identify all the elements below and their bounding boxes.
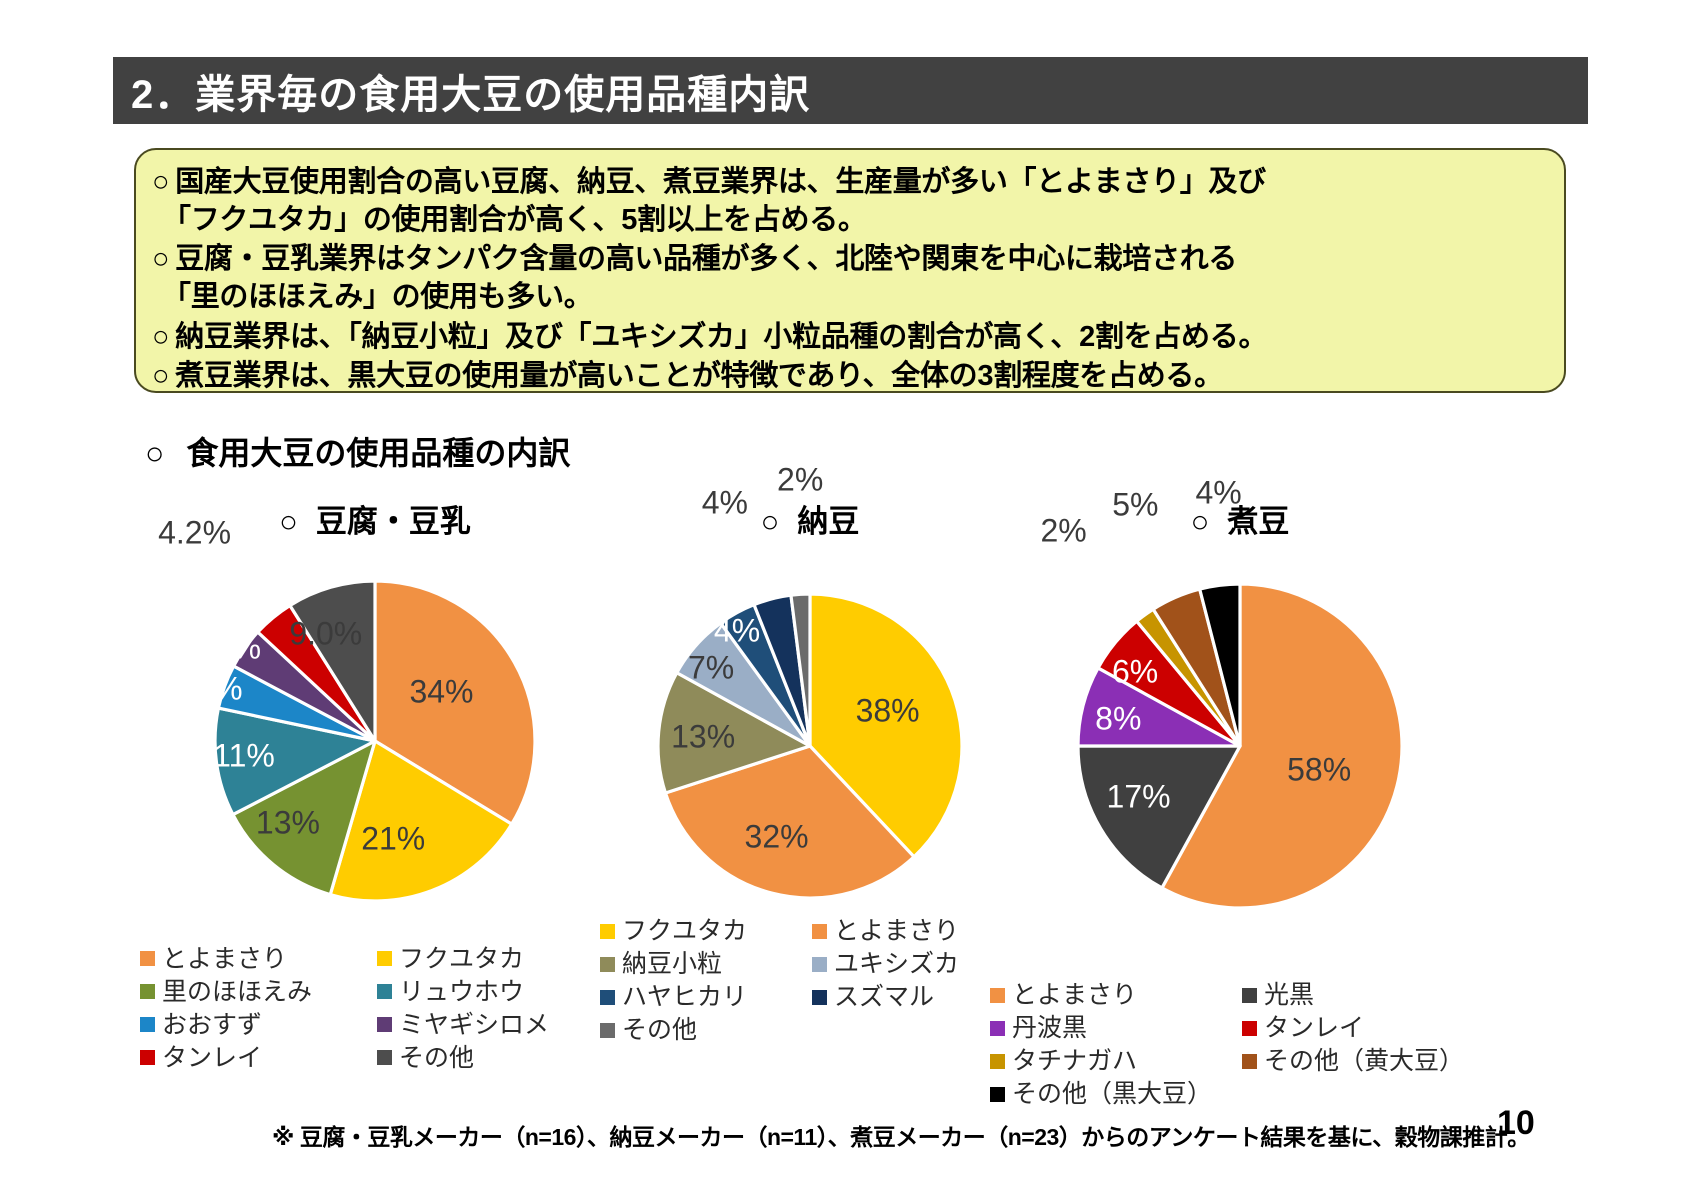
pie-slice-label: 13% <box>671 718 735 755</box>
note-marker-icon: ※ <box>272 1124 294 1150</box>
section-heading: ○食用大豆の使用品種の内訳 <box>145 428 570 474</box>
legend-swatch-icon <box>990 988 1005 1003</box>
slide-title-bar: 2．業界毎の食用大豆の使用品種内訳 <box>113 57 1588 124</box>
callout-bullet-4-line1: 煮豆業界は、黒大豆の使用量が高いことが特徴であり、全体の3割程度を占める。 <box>175 360 1223 392</box>
legend-item-label: 里のほほえみ <box>162 976 312 1008</box>
legend-item-label: 光黒 <box>1264 979 1314 1011</box>
legend-item[interactable]: タンレイ <box>140 1042 373 1074</box>
pie-slice-label: 2% <box>777 462 823 499</box>
pie-slice-label: 58% <box>1287 752 1351 789</box>
legend-item[interactable]: タチナガハ <box>990 1045 1238 1077</box>
pie-slice-label: 8% <box>1095 700 1141 737</box>
callout-bullet-3: ○納豆業界は、「納豆小粒」及び「ユキシズカ」小粒品種の割合が高く、2割を占める。 <box>152 319 1548 357</box>
legend-swatch-icon <box>990 1087 1005 1102</box>
legend-item-label: ミヤギシロメ <box>399 1009 549 1041</box>
legend-item-label: タチナガハ <box>1012 1045 1137 1077</box>
legend-swatch-icon <box>1242 988 1257 1003</box>
pie-slice-label: 32% <box>745 819 809 856</box>
legend-item-label: リュウホウ <box>399 976 524 1008</box>
legend-item[interactable]: とよまさり <box>812 915 1020 947</box>
legend-item[interactable]: フクユタカ <box>377 943 610 975</box>
pie-slice-label: 4% <box>702 484 748 521</box>
legend-item[interactable]: とよまさり <box>140 943 373 975</box>
footnote: ※豆腐・豆乳メーカー（n=16）、納豆メーカー（n=11）、煮豆メーカー（n=2… <box>272 1118 1530 1152</box>
callout-bullet-2-line2: 「里のほほえみ」の使用も多い。 <box>152 279 1548 317</box>
legend-item[interactable]: その他 <box>377 1042 610 1074</box>
legend-swatch-icon <box>600 990 615 1005</box>
legend-item-label: スズマル <box>834 981 934 1013</box>
legend-chart-3: とよまさり光黒丹波黒タンレイタチナガハその他（黄大豆）その他（黒大豆） <box>990 979 1490 1110</box>
legend-item-label: その他 <box>399 1042 474 1074</box>
legend-item[interactable]: ミヤギシロメ <box>377 1009 610 1041</box>
legend-item-label: ハヤヒカリ <box>622 981 747 1013</box>
callout-bullet-2-line1: 豆腐・豆乳業界はタンパク含量の高い品種が多く、北陸や関東を中心に栽培される <box>175 243 1237 275</box>
callout-bullet-2: ○豆腐・豆乳業界はタンパク含量の高い品種が多く、北陸や関東を中心に栽培される 「… <box>152 241 1548 316</box>
pie-svg-natto <box>610 541 1010 909</box>
legend-swatch-icon <box>600 957 615 972</box>
pie-slice-label: 6% <box>1112 653 1158 690</box>
pie-chart-2: 38%32%13%7%4%4%2% <box>600 541 1020 909</box>
pie-slice-label: 11% <box>213 738 275 775</box>
chart-tofu-soymilk: ○豆腐・豆乳 34%21%13%11%4.5%4.2%4.2%9.0% とよまさ… <box>140 496 610 1074</box>
chart-2-title: ○納豆 <box>600 496 1020 541</box>
legend-item[interactable]: ハヤヒカリ <box>600 981 808 1013</box>
pie-slice-label: 38% <box>856 693 920 730</box>
legend-swatch-icon <box>600 924 615 939</box>
chart-nimame: ○煮豆 58%17%8%6%2%5%4% とよまさり光黒丹波黒タンレイタチナガハ… <box>990 496 1490 1110</box>
pie-slice-label: 4.2% <box>188 630 261 667</box>
legend-chart-1: とよまさりフクユタカ里のほほえみリュウホウおおすずミヤギシロメタンレイその他 <box>140 943 610 1074</box>
bullet-marker-icon: ○ <box>152 321 169 353</box>
legend-swatch-icon <box>812 990 827 1005</box>
pie-slice-label: 21% <box>361 821 425 858</box>
legend-item-label: その他（黒大豆） <box>1012 1078 1212 1110</box>
bullet-marker-icon: ○ <box>761 504 780 539</box>
legend-swatch-icon <box>1242 1021 1257 1036</box>
legend-item[interactable]: その他 <box>600 1014 808 1046</box>
legend-item[interactable]: 納豆小粒 <box>600 948 808 980</box>
legend-item-label: 丹波黒 <box>1012 1012 1087 1044</box>
legend-swatch-icon <box>812 924 827 939</box>
legend-item[interactable]: その他（黄大豆） <box>1242 1045 1490 1077</box>
chart-1-title-label: 豆腐・豆乳 <box>316 504 471 539</box>
legend-item-label: その他 <box>622 1014 697 1046</box>
legend-swatch-icon <box>377 1050 392 1065</box>
callout-bullet-3-line1: 納豆業界は、「納豆小粒」及び「ユキシズカ」小粒品種の割合が高く、2割を占める。 <box>175 321 1267 353</box>
legend-item[interactable]: とよまさり <box>990 979 1238 1011</box>
legend-item-label: とよまさり <box>1012 979 1137 1011</box>
pie-slice-label: 2% <box>1040 513 1086 550</box>
bullet-marker-icon: ○ <box>152 166 169 198</box>
legend-swatch-icon <box>377 1017 392 1032</box>
legend-item[interactable]: タンレイ <box>1242 1012 1490 1044</box>
legend-swatch-icon <box>377 951 392 966</box>
legend-swatch-icon <box>140 1017 155 1032</box>
page-number: 10 <box>1497 1104 1535 1143</box>
legend-item-label: タンレイ <box>162 1042 262 1074</box>
legend-swatch-icon <box>990 1021 1005 1036</box>
page-title: 2．業界毎の食用大豆の使用品種内訳 <box>113 62 810 120</box>
bullet-marker-icon: ○ <box>145 435 164 471</box>
pie-slice-label: 4% <box>714 613 760 650</box>
summary-callout-box: ○国産大豆使用割合の高い豆腐、納豆、煮豆業界は、生産量が多い「とよまさり」及び … <box>134 148 1566 393</box>
legend-item-label: 納豆小粒 <box>622 948 722 980</box>
pie-slice-label: 4% <box>1196 475 1242 512</box>
legend-swatch-icon <box>140 951 155 966</box>
legend-item[interactable]: フクユタカ <box>600 915 808 947</box>
pie-slice-label: 13% <box>256 804 320 841</box>
legend-item[interactable]: ユキシズカ <box>812 948 1020 980</box>
legend-item-label: フクユタカ <box>622 915 747 947</box>
legend-swatch-icon <box>140 1050 155 1065</box>
pie-slice-label: 34% <box>409 674 473 711</box>
footnote-text: 豆腐・豆乳メーカー（n=16）、納豆メーカー（n=11）、煮豆メーカー（n=23… <box>300 1124 1530 1150</box>
legend-item-label: ユキシズカ <box>834 948 959 980</box>
legend-item-label: とよまさり <box>834 915 959 947</box>
legend-swatch-icon <box>600 1023 615 1038</box>
pie-chart-1: 34%21%13%11%4.5%4.2%4.2%9.0% <box>140 541 610 937</box>
legend-item[interactable]: おおすず <box>140 1009 373 1041</box>
legend-swatch-icon <box>377 984 392 999</box>
callout-bullet-4: ○煮豆業界は、黒大豆の使用量が高いことが特徴であり、全体の3割程度を占める。 <box>152 358 1548 396</box>
legend-item-label: フクユタカ <box>399 943 524 975</box>
legend-item[interactable]: 里のほほえみ <box>140 976 373 1008</box>
legend-item[interactable]: リュウホウ <box>377 976 610 1008</box>
legend-item[interactable]: スズマル <box>812 981 1020 1013</box>
chart-natto: ○納豆 38%32%13%7%4%4%2% フクユタカとよまさり納豆小粒ユキシズ… <box>600 496 1020 1046</box>
legend-item[interactable]: 光黒 <box>1242 979 1490 1011</box>
legend-item-label: とよまさり <box>162 943 287 975</box>
pie-slice-label: 4.5% <box>170 671 243 708</box>
pie-svg-nimame <box>1005 541 1475 973</box>
legend-item[interactable]: 丹波黒 <box>990 1012 1238 1044</box>
legend-swatch-icon <box>990 1054 1005 1069</box>
legend-item-label: タンレイ <box>1264 1012 1364 1044</box>
legend-swatch-icon <box>140 984 155 999</box>
pie-slice-label: 5% <box>1112 486 1158 523</box>
legend-item-label: おおすず <box>162 1009 262 1041</box>
pie-chart-3: 58%17%8%6%2%5%4% <box>990 541 1490 973</box>
chart-2-title-label: 納豆 <box>797 504 859 539</box>
callout-bullet-1: ○国産大豆使用割合の高い豆腐、納豆、煮豆業界は、生産量が多い「とよまさり」及び … <box>152 164 1548 239</box>
bullet-marker-icon: ○ <box>279 504 298 539</box>
legend-item[interactable]: その他（黒大豆） <box>990 1078 1238 1110</box>
callout-bullet-1-line1: 国産大豆使用割合の高い豆腐、納豆、煮豆業界は、生産量が多い「とよまさり」及び <box>175 166 1266 198</box>
pie-slice-label: 17% <box>1107 779 1171 816</box>
pie-slice-label: 9.0% <box>289 615 362 652</box>
legend-swatch-icon <box>1242 1054 1257 1069</box>
section-heading-label: 食用大豆の使用品種の内訳 <box>186 435 570 471</box>
callout-bullet-1-line2: 「フクユタカ」の使用割合が高く、5割以上を占める。 <box>152 202 1548 240</box>
legend-chart-2: フクユタカとよまさり納豆小粒ユキシズカハヤヒカリスズマルその他 <box>600 915 1020 1046</box>
bullet-marker-icon: ○ <box>152 360 169 392</box>
legend-swatch-icon <box>812 957 827 972</box>
pie-slice-label: 4.2% <box>158 514 231 551</box>
legend-item-label: その他（黄大豆） <box>1264 1045 1464 1077</box>
bullet-marker-icon: ○ <box>152 243 169 275</box>
pie-slice-label: 7% <box>688 649 734 686</box>
